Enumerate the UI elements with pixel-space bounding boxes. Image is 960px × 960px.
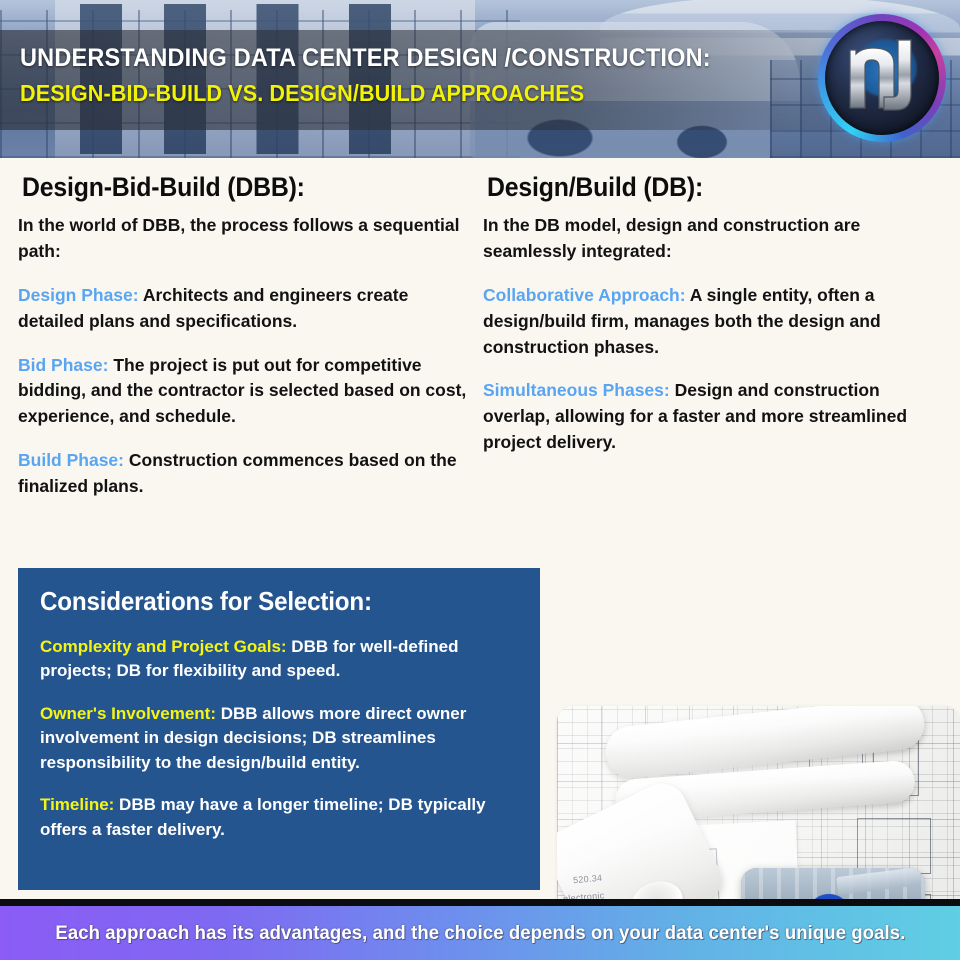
left-item-bid-phase: Bid Phase: The project is put out for co… [18, 353, 470, 431]
consideration-item-complexity: Complexity and Project Goals: DBB for we… [40, 635, 518, 684]
left-item-design-phase-label: Design Phase: [18, 285, 139, 305]
page-title-line2: DESIGN-BID-BUILD VS. DESIGN/BUILD APPROA… [20, 79, 772, 107]
left-item-design-phase: Design Phase: Architects and engineers c… [18, 283, 470, 335]
left-column-heading: Design-Bid-Build (DBB): [22, 172, 434, 203]
right-column-heading: Design/Build (DB): [487, 172, 908, 203]
left-column-intro: In the world of DBB, the process follows… [18, 213, 470, 265]
column-design-build: Design/Build (DB): In the DB model, desi… [483, 158, 945, 474]
consideration-item-timeline-label: Timeline: [40, 795, 114, 814]
company-logo[interactable] [818, 14, 946, 142]
right-item-simultaneous-phases: Simultaneous Phases: Design and construc… [483, 378, 945, 456]
consideration-item-owner-involvement-label: Owner's Involvement: [40, 704, 216, 723]
considerations-box: Considerations for Selection: Complexity… [18, 568, 540, 890]
left-item-build-phase: Build Phase: Construction commences base… [18, 448, 470, 500]
footer-text: Each approach has its advantages, and th… [55, 922, 905, 945]
right-item-collaborative-approach: Collaborative Approach: A single entity,… [483, 283, 945, 361]
footer-banner: Each approach has its advantages, and th… [0, 906, 960, 960]
left-item-bid-phase-label: Bid Phase: [18, 355, 108, 375]
infographic-page: UNDERSTANDING DATA CENTER DESIGN /CONSTR… [0, 0, 960, 960]
header-banner: UNDERSTANDING DATA CENTER DESIGN /CONSTR… [0, 0, 960, 158]
main-content: Design-Bid-Build (DBB): In the world of … [0, 158, 960, 898]
nl-monogram-icon [818, 14, 946, 142]
column-design-bid-build: Design-Bid-Build (DBB): In the world of … [18, 158, 470, 518]
footer-divider [0, 899, 960, 906]
consideration-item-owner-involvement: Owner's Involvement: DBB allows more dir… [40, 702, 518, 775]
header-title-block: UNDERSTANDING DATA CENTER DESIGN /CONSTR… [20, 44, 820, 107]
right-item-collaborative-approach-label: Collaborative Approach: [483, 285, 686, 305]
considerations-heading: Considerations for Selection: [40, 586, 485, 617]
consideration-item-timeline: Timeline: DBB may have a longer timeline… [40, 793, 518, 842]
left-item-build-phase-label: Build Phase: [18, 450, 124, 470]
right-item-simultaneous-phases-label: Simultaneous Phases: [483, 380, 670, 400]
page-title-line1: UNDERSTANDING DATA CENTER DESIGN /CONSTR… [20, 44, 772, 73]
right-column-intro: In the DB model, design and construction… [483, 213, 945, 265]
consideration-item-complexity-label: Complexity and Project Goals: [40, 637, 287, 656]
